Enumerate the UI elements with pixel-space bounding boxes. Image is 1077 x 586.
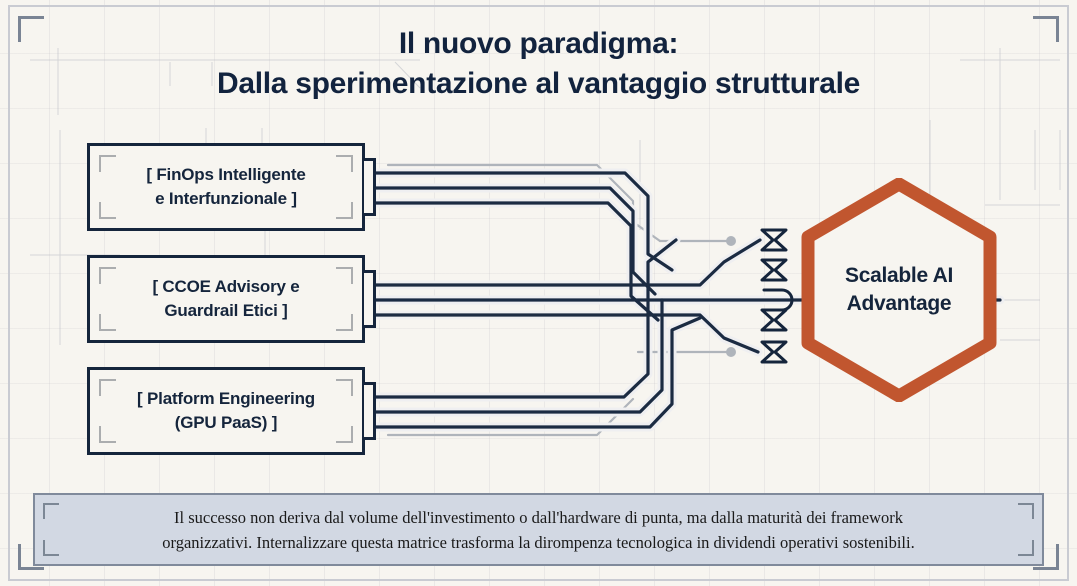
wire-m3-c bbox=[376, 318, 700, 427]
wire-m1-c bbox=[376, 203, 658, 320]
module-box-ccoe[interactable]: [ CCOE Advisory e Guardrail Etici ] bbox=[87, 255, 365, 343]
ghost-wire-top bbox=[388, 165, 660, 241]
arrowhead-icon bbox=[762, 230, 786, 250]
module-label-line-2: (GPU PaaS) ] bbox=[137, 411, 315, 435]
terminator-dot-icon bbox=[726, 236, 736, 357]
corner-bracket-icon bbox=[336, 426, 353, 443]
diagram-canvas: Il nuovo paradigma: Dalla sperimentazion… bbox=[0, 0, 1077, 586]
wire-m2-c bbox=[376, 315, 758, 352]
corner-bracket-icon bbox=[336, 379, 353, 396]
module-label-line-1: [ CCOE Advisory e bbox=[152, 275, 299, 299]
caption-panel: Il successo non deriva dal volume dell'i… bbox=[33, 493, 1044, 566]
arrowhead-icon bbox=[762, 310, 786, 330]
corner-bracket-icon bbox=[336, 155, 353, 172]
caption-text: Il successo non deriva dal volume dell'i… bbox=[74, 505, 1004, 555]
arrowhead-icon bbox=[762, 260, 786, 280]
corner-bracket-icon bbox=[99, 202, 116, 219]
page-title: Il nuovo paradigma: Dalla sperimentazion… bbox=[0, 24, 1077, 104]
module-label: [ CCOE Advisory e Guardrail Etici ] bbox=[152, 275, 299, 323]
corner-bracket-icon bbox=[43, 540, 59, 556]
corner-bracket-icon bbox=[336, 202, 353, 219]
wire-m1-a bbox=[376, 173, 672, 270]
module-label-line-1: [ Platform Engineering bbox=[137, 387, 315, 411]
wire-m3-b bbox=[376, 300, 662, 412]
corner-bracket-icon bbox=[99, 314, 116, 331]
caption-line-1: Il successo non deriva dal volume dell'i… bbox=[74, 505, 1004, 530]
module-label: [ Platform Engineering (GPU PaaS) ] bbox=[137, 387, 315, 435]
module-port-finops bbox=[364, 158, 376, 216]
wire-m2-a bbox=[376, 240, 760, 285]
wire-m1-b bbox=[376, 188, 655, 294]
corner-bracket-icon bbox=[99, 379, 116, 396]
module-label-line-1: [ FinOps Intelligente bbox=[146, 163, 305, 187]
module-label-line-2: e Interfunzionale ] bbox=[146, 187, 305, 211]
module-label-line-2: Guardrail Etici ] bbox=[152, 299, 299, 323]
hexagon-label: Scalable AI Advantage bbox=[798, 178, 1000, 402]
corner-bracket-icon bbox=[43, 503, 59, 519]
hexagon-scalable-ai-advantage[interactable]: Scalable AI Advantage bbox=[798, 178, 1000, 402]
corner-bracket-icon bbox=[1018, 540, 1034, 556]
arrowhead-icon bbox=[762, 342, 786, 362]
hexagon-label-line-2: Advantage bbox=[847, 290, 952, 318]
module-box-finops[interactable]: [ FinOps Intelligente e Interfunzionale … bbox=[87, 143, 365, 231]
corner-bracket-icon bbox=[1018, 503, 1034, 519]
corner-bracket-icon bbox=[99, 426, 116, 443]
page-title-line-1: Il nuovo paradigma: bbox=[0, 24, 1077, 64]
wire-m3-a bbox=[376, 240, 676, 397]
page-title-line-2: Dalla sperimentazione al vantaggio strut… bbox=[0, 64, 1077, 104]
corner-bracket-icon bbox=[336, 314, 353, 331]
hexagon-label-line-1: Scalable AI bbox=[845, 262, 953, 290]
module-label: [ FinOps Intelligente e Interfunzionale … bbox=[146, 163, 305, 211]
module-port-ccoe bbox=[364, 270, 376, 328]
corner-bracket-icon bbox=[99, 155, 116, 172]
corner-bracket-icon bbox=[336, 267, 353, 284]
ghost-wire-bottom bbox=[388, 399, 633, 435]
rounded-endpoint-icon bbox=[764, 290, 792, 310]
corner-bracket-icon bbox=[99, 267, 116, 284]
caption-line-2: organizzativi. Internalizzare questa mat… bbox=[74, 530, 1004, 555]
module-box-platform-engineering[interactable]: [ Platform Engineering (GPU PaaS) ] bbox=[87, 367, 365, 455]
module-port-platform-engineering bbox=[364, 382, 376, 440]
